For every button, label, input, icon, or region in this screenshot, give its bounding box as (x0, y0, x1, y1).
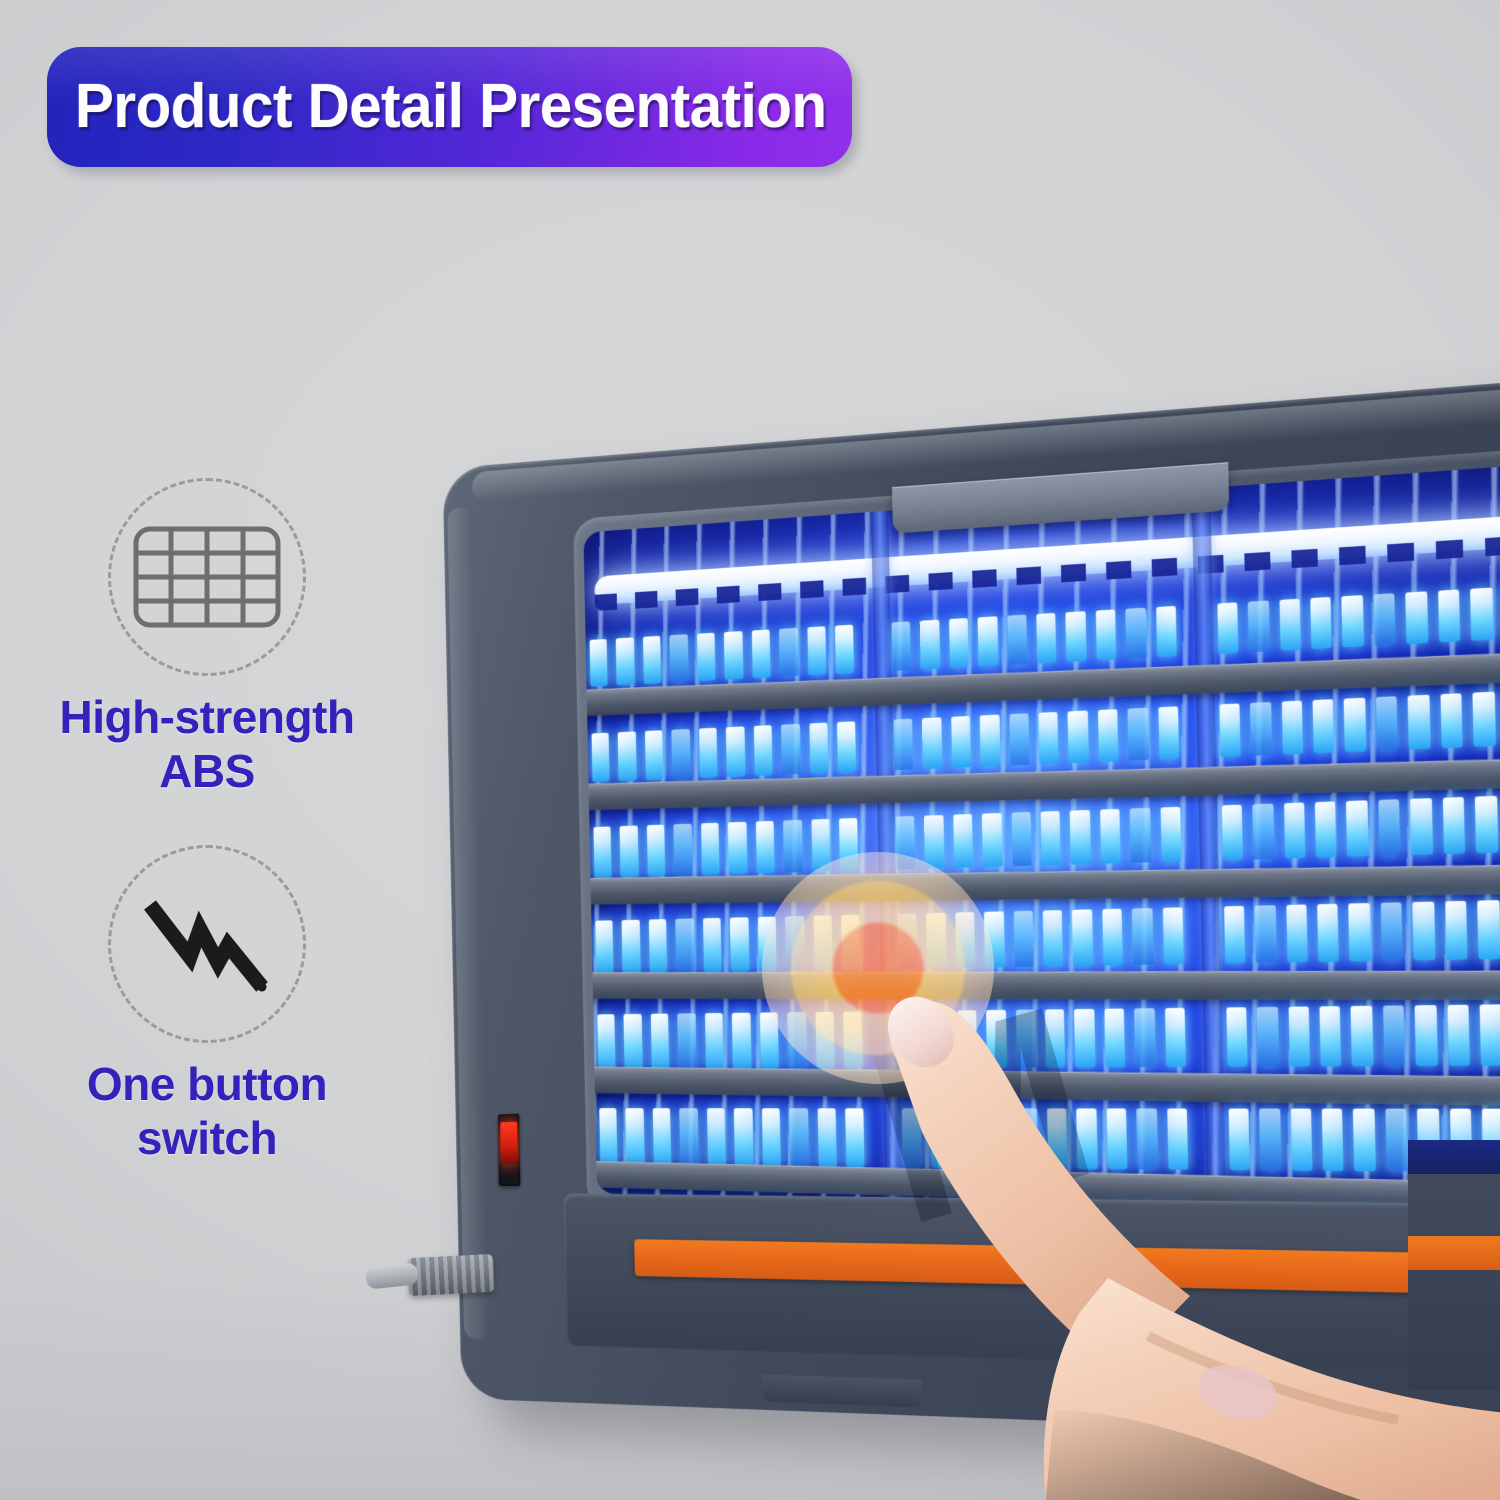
led-chip (1438, 589, 1461, 642)
led-chip (835, 625, 855, 674)
led-chip (1257, 1007, 1279, 1067)
led-chip (726, 726, 745, 776)
led-chip (1228, 1109, 1250, 1171)
led-chip (1038, 712, 1059, 764)
led-chip (783, 820, 802, 873)
led-chip (616, 637, 635, 685)
led-chip (1406, 591, 1428, 644)
led-chip (1096, 609, 1117, 660)
led-chip (930, 1108, 950, 1168)
led-chip (753, 725, 772, 776)
led-chip (701, 823, 720, 875)
led-chip (705, 1013, 724, 1069)
led-chip (1045, 1009, 1066, 1067)
mesh-grid-icon (132, 525, 282, 629)
led-chip (980, 715, 1000, 767)
led-chip (1066, 611, 1087, 662)
led-chip (1160, 807, 1181, 862)
led-chip (1217, 602, 1238, 654)
uv-grille-cavity (583, 460, 1500, 1205)
led-chip (843, 1011, 863, 1068)
led-chip (813, 915, 833, 970)
led-chip (1100, 809, 1121, 864)
led-chip (680, 1108, 699, 1166)
led-chip (1283, 803, 1305, 859)
feature-label-line-2: ABS (42, 744, 372, 798)
led-chip (590, 639, 608, 687)
led-chip (896, 816, 916, 869)
led-chip (1070, 810, 1091, 865)
led-chip (982, 813, 1002, 867)
led-chip (893, 719, 913, 771)
led-chip (730, 917, 749, 971)
led-chip (920, 620, 940, 670)
led-chip (593, 826, 612, 877)
led-chip (1374, 593, 1396, 646)
device-abs-shell (443, 373, 1500, 1442)
led-chip (1098, 709, 1119, 762)
led-chip (626, 1108, 645, 1165)
led-chip (1312, 699, 1334, 753)
led-chip (845, 1108, 865, 1167)
led-chip (785, 916, 804, 971)
led-chip (755, 821, 774, 874)
led-chip (1130, 808, 1151, 863)
led-chip (728, 822, 747, 874)
led-chip (1018, 1108, 1039, 1168)
led-chip (622, 920, 641, 974)
led-chip (1351, 1006, 1373, 1066)
led-chip (951, 716, 971, 768)
led-chip (724, 631, 743, 680)
led-chip (1445, 901, 1468, 960)
led-chip (624, 1014, 643, 1069)
adjacent-panel-dark-band (1408, 1140, 1500, 1174)
led-chip (978, 616, 998, 666)
led-chip (922, 717, 942, 769)
led-chip (1317, 904, 1339, 962)
led-chip (732, 1013, 751, 1069)
led-chip (620, 826, 639, 878)
led-chip (592, 733, 610, 783)
led-chip (1104, 1009, 1125, 1068)
led-chip (924, 815, 944, 869)
led-chip (1440, 693, 1463, 748)
led-chip (839, 818, 859, 871)
led-chip (1310, 597, 1332, 649)
led-chip (1342, 595, 1364, 647)
led-chip (789, 1108, 809, 1167)
feature-icon-circle (108, 845, 306, 1043)
feature-callout-high-strength-abs: High-strength ABS (42, 478, 372, 799)
led-chip (807, 626, 826, 675)
led-chip (1013, 911, 1034, 967)
led-chip (988, 1108, 1009, 1168)
led-chip (1162, 907, 1183, 964)
led-chip (1102, 909, 1123, 966)
led-chip (817, 1108, 837, 1167)
adjacent-device-panel (1408, 1140, 1500, 1390)
led-chip (1224, 906, 1246, 964)
led-chip (618, 731, 637, 781)
led-chip (1319, 1006, 1341, 1066)
led-chip (1477, 900, 1500, 959)
led-chip (1015, 1010, 1036, 1068)
led-chip (699, 728, 718, 778)
led-chip (1107, 1108, 1128, 1169)
led-chip (900, 1011, 920, 1068)
led-chip (674, 824, 693, 876)
product-device (452, 468, 1500, 1458)
led-chip (811, 819, 831, 872)
led-chip (1165, 1008, 1186, 1067)
led-chip (1447, 1005, 1470, 1066)
led-chip (1415, 1005, 1438, 1066)
led-chip (597, 1014, 616, 1069)
led-row (595, 1097, 1500, 1205)
led-chip (953, 814, 973, 868)
orange-tray-strip (634, 1239, 1500, 1297)
led-chip (1137, 1108, 1158, 1169)
led-chip (1381, 902, 1403, 961)
led-chip (1128, 708, 1149, 761)
led-chip (1068, 711, 1089, 764)
led-chip (1322, 1109, 1344, 1171)
led-chip (1408, 695, 1430, 750)
feature-label-line-2: switch (42, 1111, 372, 1165)
feature-callout-one-button-switch: One button switch (42, 845, 372, 1166)
led-chip (595, 920, 614, 973)
feature-label-line-1: High-strength (42, 690, 372, 744)
led-chip (1442, 797, 1465, 854)
page-title: Product Detail Presentation (75, 76, 827, 138)
led-chip (1156, 606, 1177, 657)
led-chip (697, 633, 716, 681)
power-cord-strain-relief (407, 1254, 495, 1296)
feature-label: High-strength ABS (42, 690, 372, 799)
led-chip (986, 1010, 1007, 1068)
led-chip (1250, 702, 1272, 756)
led-chip (1344, 698, 1366, 752)
led-chip (1158, 706, 1179, 759)
led-chip (1281, 701, 1303, 755)
led-chip (757, 917, 776, 971)
led-chip (1041, 811, 1062, 865)
led-chip (1480, 1004, 1500, 1065)
led-chip (955, 912, 975, 968)
led-chip (1413, 902, 1436, 961)
led-chip (1036, 613, 1057, 664)
led-chip (1385, 1109, 1408, 1172)
led-chip (751, 629, 770, 678)
led-chip (841, 915, 861, 970)
led-chip (891, 621, 911, 671)
led-chip (1353, 1109, 1375, 1172)
led-chip (1167, 1109, 1188, 1170)
led-chip (959, 1108, 979, 1168)
led-chip (1009, 713, 1029, 765)
led-chip (1134, 1008, 1155, 1067)
product-detail-image: Product Detail Presentation High-strengt… (0, 0, 1500, 1500)
led-chip (1383, 1005, 1406, 1066)
led-chip (599, 1108, 618, 1165)
shell-left-bevel (447, 506, 489, 1339)
led-chip (734, 1108, 753, 1166)
lightning-bolt-icon (132, 889, 282, 999)
led-chip (761, 1108, 780, 1166)
led-chip (949, 618, 969, 668)
led-chip (926, 913, 946, 969)
led-chip (1378, 799, 1400, 856)
led-chip (928, 1011, 948, 1069)
title-banner: Product Detail Presentation (47, 47, 852, 167)
led-chip (1226, 1007, 1248, 1067)
led-chip (1047, 1108, 1068, 1168)
led-chip (678, 1013, 697, 1069)
led-chip (1279, 599, 1301, 651)
switch-red-glow (500, 1122, 517, 1164)
led-chip (815, 1012, 835, 1069)
led-chip (898, 913, 918, 968)
led-chip (670, 634, 689, 682)
led-chip (1007, 615, 1027, 665)
led-chip (649, 919, 668, 973)
feature-label-line-1: One button (42, 1057, 372, 1111)
led-chip (1011, 812, 1032, 866)
led-chip (1219, 703, 1241, 757)
led-chip (1132, 908, 1153, 965)
led-chip (957, 1010, 977, 1068)
led-chip (902, 1108, 922, 1167)
led-chip (653, 1108, 672, 1166)
led-chip (1126, 608, 1147, 659)
led-chip (647, 825, 666, 877)
led-chip (1221, 805, 1243, 861)
led-chip (1315, 801, 1337, 857)
led-chip (1475, 796, 1498, 853)
led-chip (1290, 1109, 1312, 1171)
led-chip (1286, 904, 1308, 962)
led-chip (645, 730, 664, 780)
led-chip (1043, 910, 1064, 966)
led-chip (1252, 804, 1274, 860)
adjacent-panel-orange-strip (1408, 1236, 1500, 1270)
led-chip (759, 1012, 778, 1068)
device-foot (762, 1374, 922, 1407)
led-chip (787, 1012, 807, 1069)
red-rocker-switch[interactable] (498, 1113, 521, 1186)
led-chip (1255, 905, 1277, 963)
led-chip (984, 911, 1004, 967)
led-chip (707, 1108, 726, 1166)
led-chip (779, 628, 798, 677)
led-chip (1376, 696, 1398, 751)
led-strip (593, 1003, 1500, 1069)
led-chip (1410, 798, 1433, 855)
led-chip (1470, 588, 1493, 641)
led-chip (781, 724, 800, 775)
led-chip (651, 1014, 670, 1070)
led-chip (643, 636, 662, 684)
led-chip (1259, 1109, 1281, 1171)
led-chip (1075, 1009, 1096, 1068)
led-row (593, 992, 1500, 1102)
bottom-bezel (563, 1193, 1500, 1378)
led-strip (591, 898, 1500, 974)
led-chip (672, 729, 691, 779)
feature-label: One button switch (42, 1057, 372, 1166)
led-chip (1248, 601, 1270, 653)
feature-icon-circle (108, 478, 306, 676)
led-chip (1077, 1108, 1098, 1169)
led-chip (1288, 1007, 1310, 1067)
led-chip (837, 721, 857, 772)
led-chip (1072, 909, 1093, 966)
led-chip (1349, 903, 1371, 961)
led-chip (809, 723, 829, 774)
led-chip (1473, 692, 1496, 747)
led-chip (1346, 800, 1368, 856)
led-chip (676, 918, 695, 972)
led-chip (703, 918, 722, 972)
